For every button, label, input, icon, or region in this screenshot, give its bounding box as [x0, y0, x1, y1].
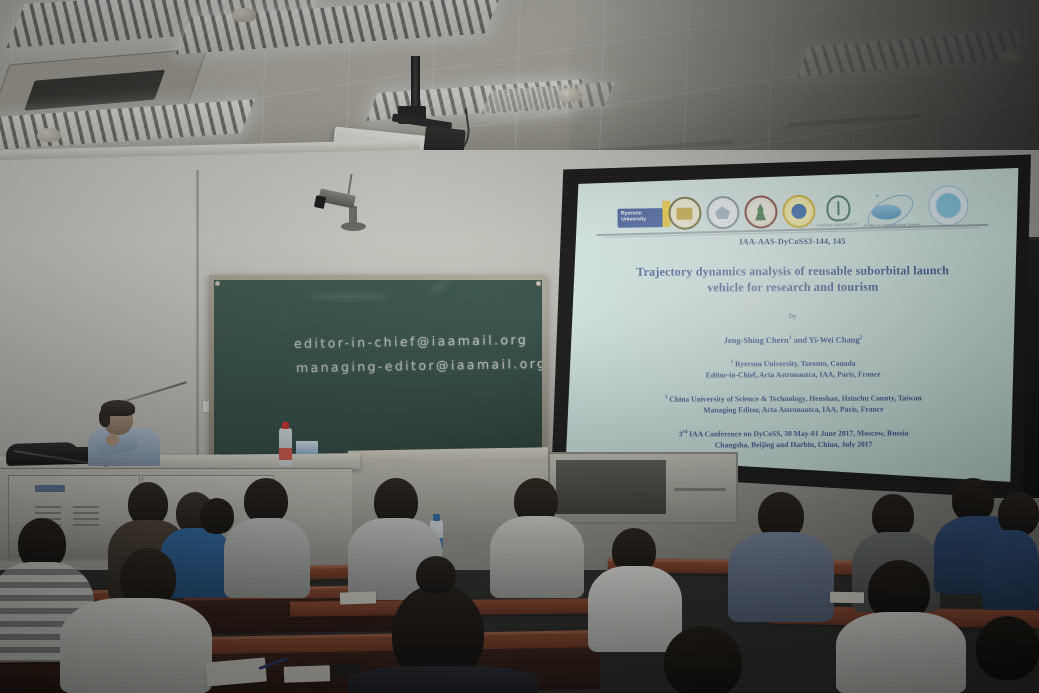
slide-conference-info: 3rd IAA Conference on DyCoSS, 30 May-01 … [584, 427, 1004, 451]
chalk-smudge [429, 280, 450, 295]
slide-title-line-2: vehicle for research and tourism [583, 279, 1003, 297]
paper-sheet [830, 592, 864, 604]
person-torso [982, 530, 1039, 610]
international-academy-of-astronautics-logo [928, 185, 969, 226]
aas-planet-icon [871, 204, 901, 219]
slide-title: Trajectory dynamics analysis of reusable… [583, 263, 1003, 296]
smoke-detector-icon [232, 8, 256, 22]
presenter-hair-side [99, 409, 110, 427]
slide-title-line-1: Trajectory dynamics analysis of reusable… [583, 263, 1003, 281]
person-torso [728, 532, 834, 622]
person-head [416, 556, 456, 594]
presentation-slide: Ryerson University FUDAN UNIVERSITY ✦ Am… [582, 175, 1004, 487]
small-blue-box [296, 441, 318, 454]
author-2-sup: 2 [859, 335, 862, 341]
chinese-academy-seal-4 [782, 195, 816, 229]
chinese-university-seal-1 [668, 196, 702, 230]
bottle-cap [433, 514, 440, 521]
authors-join: and Yi-Wei Chang [791, 336, 859, 345]
chinese-university-seal-2 [706, 196, 740, 230]
wall-cabinet-opening [556, 460, 666, 514]
slide-by-label: by [583, 310, 1003, 321]
wall-cabinet-shelf [674, 488, 726, 491]
chalkboard-line-1: editor-in-chief@iaamail.org [294, 332, 528, 351]
paper-sheet [284, 665, 331, 683]
affiliation-1-text: Ryerson University, Toronto, Canada [733, 359, 855, 369]
chalkboard-line-2: managing-editor@iaamail.org [296, 356, 542, 375]
person-head [200, 498, 234, 534]
lecture-hall-photo: editor-in-chief@iaamail.org managing-edi… [0, 0, 1039, 693]
wall-seam [196, 170, 199, 480]
security-camera-base [341, 222, 366, 231]
slide-logo-row: Ryerson University FUDAN UNIVERSITY ✦ Am… [582, 175, 1003, 232]
wall-cabinet[interactable] [548, 452, 738, 524]
cabinet-vent-slit [73, 506, 99, 508]
affiliation-2-text: China University of Science & Technology… [667, 393, 921, 403]
slide-affiliation-2: 2 China University of Science & Technolo… [583, 392, 1003, 416]
bottle-label [279, 448, 292, 460]
person-torso [60, 598, 212, 693]
presenter-hand [106, 434, 119, 446]
affiliation-1-line-2: Editor-in-Chief, Acta Astronautca, IAA, … [583, 368, 1003, 381]
chinese-university-seal-3 [744, 195, 778, 229]
cabinet-vent-slit [73, 518, 99, 520]
chalkboard: editor-in-chief@iaamail.org managing-edi… [209, 275, 547, 465]
person-torso [588, 566, 682, 652]
cabinet-label [35, 485, 65, 492]
slide-authors: Jeng-Shing Chern1 and Yi-Wei Chang2 [583, 334, 1003, 346]
ryerson-university-logo: Ryerson University [617, 208, 663, 228]
smartphone [332, 663, 361, 675]
person-torso [348, 666, 538, 693]
water-bottle [279, 428, 292, 466]
conference-text: IAA Conference on DyCoSS, 30 May-01 June… [687, 428, 908, 438]
bottle-cap [282, 422, 289, 429]
cabinet-vent-slit [73, 512, 99, 514]
person-head [664, 626, 742, 693]
fudan-university-logo: FUDAN UNIVERSITY [820, 192, 857, 228]
person-head [976, 616, 1039, 680]
chalkboard-screw [215, 281, 220, 286]
chalkboard-screw [536, 281, 541, 286]
aas-star-icon: ✦ [875, 193, 880, 200]
american-astronautical-society-logo: ✦ American Astronautical Society [861, 190, 924, 227]
chalkboard-surface: editor-in-chief@iaamail.org managing-edi… [214, 280, 542, 460]
chalk-smudge [309, 294, 389, 299]
chalk-smudge [274, 310, 290, 332]
affiliation-2-line-2: Managing Editor, Acta Astronautca, IAA, … [583, 403, 1003, 416]
conference-line-2: Changsha, Beijing and Harbin, China, Jul… [584, 438, 1004, 451]
fudan-mark-icon [826, 195, 850, 221]
cabinet-vent-slit [73, 524, 99, 526]
person-torso [836, 612, 966, 693]
red-star-icon [794, 207, 803, 216]
cabinet-vent-slit [35, 512, 61, 514]
slide-affiliation-1: 1 Ryerson University, Toronto, Canada Ed… [583, 357, 1003, 381]
person-torso [224, 518, 310, 598]
paper-sheet [340, 591, 376, 604]
cabinet-vent-slit [35, 506, 61, 508]
author-1-name: Jeng-Shing Chern [724, 336, 789, 345]
person-torso [490, 516, 584, 598]
smoke-detector-icon [37, 128, 61, 142]
